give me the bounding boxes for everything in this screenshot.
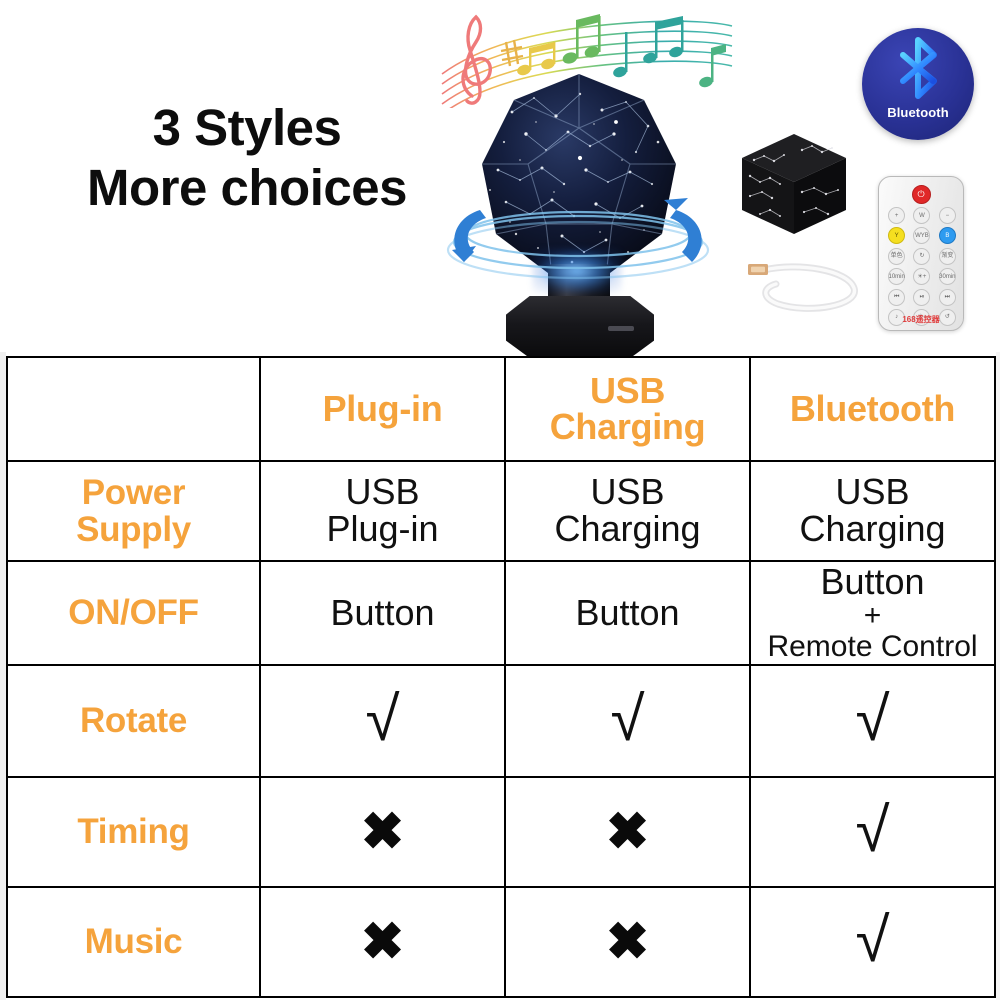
remote-key-play-pause[interactable]: ⏯ [913,289,930,306]
remote-key-wyb[interactable]: WYB [913,227,930,244]
product-comparison-infographic: 3 Styles More choices [0,0,1000,1000]
cell-on-off-bluetooth-line1: Button [820,561,924,602]
cell-music-bluetooth: √ [750,887,995,997]
remote-control: ⏻ + W − Y WYB B 单色 ↻ 渐变 10min ☀+ 30min ⏮… [878,176,964,331]
remote-keypad: + W − Y WYB B 单色 ↻ 渐变 10min ☀+ 30min ⏮ ⏯… [884,207,960,326]
cell-power-supply-plugin-line2: Plug-in [326,508,438,549]
gift-box [736,128,852,240]
column-header-bluetooth: Bluetooth [750,357,995,461]
remote-key-cycle[interactable]: ↻ [913,248,930,265]
remote-key-plus[interactable]: + [888,207,905,224]
feature-comparison-table: Plug-in USB Charging Bluetooth Power Sup… [6,356,996,998]
table-row: Power Supply USB Plug-in USB Charging US… [7,461,995,561]
feature-timing-label: Timing [77,812,189,851]
projector-base [506,296,654,358]
table-row: Rotate √ √ √ [7,665,995,777]
bluetooth-badge: Bluetooth [862,28,974,140]
cell-on-off-bluetooth: Button + Remote Control [750,561,995,665]
remote-key-timer-10min[interactable]: 10min [888,268,905,285]
cell-power-supply-bluetooth: USB Charging [750,461,995,561]
cell-timing-usb: ✖ [505,777,750,887]
cell-music-usb: ✖ [505,887,750,997]
check-icon: √ [855,806,889,857]
cell-on-off-plugin: Button [260,561,505,665]
feature-label-rotate: Rotate [7,665,260,777]
table-header-row: Plug-in USB Charging Bluetooth [7,357,995,461]
hero-banner: 3 Styles More choices [0,0,1000,352]
column-header-plugin-label: Plug-in [323,388,443,429]
cross-icon: ✖ [606,809,650,856]
remote-key-blue[interactable]: B [939,227,956,244]
remote-power-button[interactable]: ⏻ [912,185,931,204]
feature-label-on-off: ON/OFF [7,561,260,665]
remote-key-timer-30min[interactable]: 30min [939,268,956,285]
feature-music-label: Music [85,922,183,961]
cell-power-supply-plugin: USB Plug-in [260,461,505,561]
cell-on-off-usb-value: Button [575,592,679,633]
cell-music-plugin: ✖ [260,887,505,997]
column-header-plugin: Plug-in [260,357,505,461]
cell-power-supply-usb: USB Charging [505,461,750,561]
cell-timing-bluetooth: √ [750,777,995,887]
cell-on-off-usb: Button [505,561,750,665]
feature-label-timing: Timing [7,777,260,887]
table-corner-cell [7,357,260,461]
rotation-arrows-icon [438,190,718,290]
headline-line-2: More choices [52,158,442,218]
usb-cable [742,248,870,318]
cell-timing-plugin: ✖ [260,777,505,887]
remote-key-single-color[interactable]: 单色 [888,248,905,265]
check-icon: √ [855,695,889,746]
cell-rotate-plugin: √ [260,665,505,777]
feature-power-supply-line1: Power [82,473,186,512]
column-header-usb-charging: USB Charging [505,357,750,461]
remote-key-brightness-up[interactable]: ☀+ [913,268,930,285]
remote-model-label: 168遥控器 [879,314,963,325]
cell-on-off-bluetooth-line3: Remote Control [755,631,990,662]
check-icon: √ [610,695,644,746]
headline-line-1: 3 Styles [52,98,442,158]
cell-power-supply-bluetooth-line1: USB [835,471,909,512]
cell-on-off-bluetooth-plus: + [755,601,990,631]
remote-power-row: ⏻ [879,185,963,204]
star-projector-lamp [444,72,712,357]
remote-key-yellow[interactable]: Y [888,227,905,244]
column-header-usb-line1: USB [590,370,665,411]
feature-rotate-label: Rotate [80,701,187,740]
cross-icon: ✖ [361,919,405,966]
bluetooth-badge-label: Bluetooth [862,105,974,120]
feature-label-power-supply: Power Supply [7,461,260,561]
cell-power-supply-usb-line2: Charging [554,508,700,549]
bluetooth-icon [891,37,945,99]
remote-key-gradient[interactable]: 渐变 [939,248,956,265]
remote-key-w[interactable]: W [913,207,930,224]
headline: 3 Styles More choices [52,98,442,217]
check-icon: √ [855,916,889,967]
cell-power-supply-plugin-line1: USB [345,471,419,512]
remote-key-previous[interactable]: ⏮ [888,289,905,306]
cell-on-off-plugin-value: Button [330,592,434,633]
cell-power-supply-bluetooth-line2: Charging [799,508,945,549]
column-header-usb-line2: Charging [550,406,706,447]
remote-key-minus[interactable]: − [939,207,956,224]
table-row: Music ✖ ✖ √ [7,887,995,997]
cell-rotate-usb: √ [505,665,750,777]
cross-icon: ✖ [606,919,650,966]
cross-icon: ✖ [361,809,405,856]
cell-power-supply-usb-line1: USB [590,471,664,512]
column-header-bluetooth-label: Bluetooth [790,388,955,429]
feature-power-supply-line2: Supply [76,510,191,549]
remote-key-next[interactable]: ⏭ [939,289,956,306]
feature-label-music: Music [7,887,260,997]
cell-rotate-bluetooth: √ [750,665,995,777]
feature-on-off-label: ON/OFF [68,593,198,632]
table-row: ON/OFF Button Button Button + Remote Con… [7,561,995,665]
check-icon: √ [365,695,399,746]
table-row: Timing ✖ ✖ √ [7,777,995,887]
